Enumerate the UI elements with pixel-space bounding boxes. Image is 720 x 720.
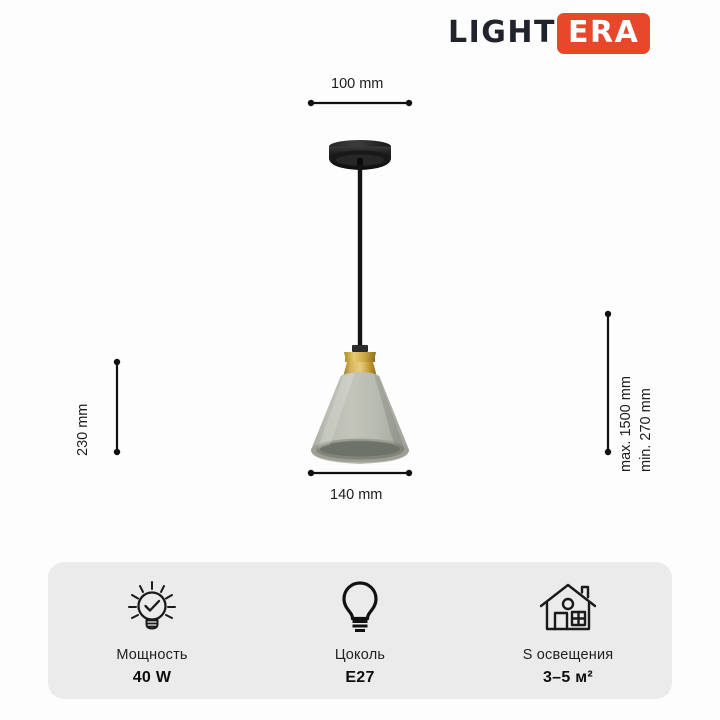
dimension-shade-height-line: [114, 359, 120, 455]
spec-socket-title: Цоколь: [335, 647, 385, 663]
spec-power-title: Мощность: [116, 647, 187, 663]
spec-item-power: Мощность 40 W: [48, 562, 256, 699]
spec-socket-value: E27: [345, 669, 374, 687]
spec-area-value: 3–5 м²: [543, 669, 593, 687]
dimension-top-width-label: 100 mm: [331, 76, 383, 92]
dimension-bottom-width-label: 140 mm: [330, 487, 382, 503]
bulb-check-icon: [124, 578, 180, 636]
dimension-shade-height-label: 230 mm: [75, 404, 91, 456]
dimension-cord-length-line: [605, 311, 611, 455]
lamp-cord: [358, 165, 362, 350]
spec-item-area: S освещения 3–5 м²: [464, 562, 672, 699]
spec-area-title: S освещения: [523, 647, 614, 663]
dimension-top-width-line: [308, 100, 412, 106]
dimension-bottom-width-line: [308, 470, 412, 476]
spec-panel: Мощность 40 W Цоколь E27: [48, 562, 672, 699]
spec-power-value: 40 W: [133, 669, 172, 687]
dimension-cord-max-label: max. 1500 mm: [618, 376, 634, 472]
dimension-cord-min-label: min. 270 mm: [638, 388, 654, 472]
lamp-shade: [311, 372, 409, 464]
bulb-socket-icon: [332, 578, 388, 636]
spec-item-socket: Цоколь E27: [256, 562, 464, 699]
product-spec-image: LIGHT ERA: [0, 0, 720, 720]
house-icon: [538, 578, 598, 636]
